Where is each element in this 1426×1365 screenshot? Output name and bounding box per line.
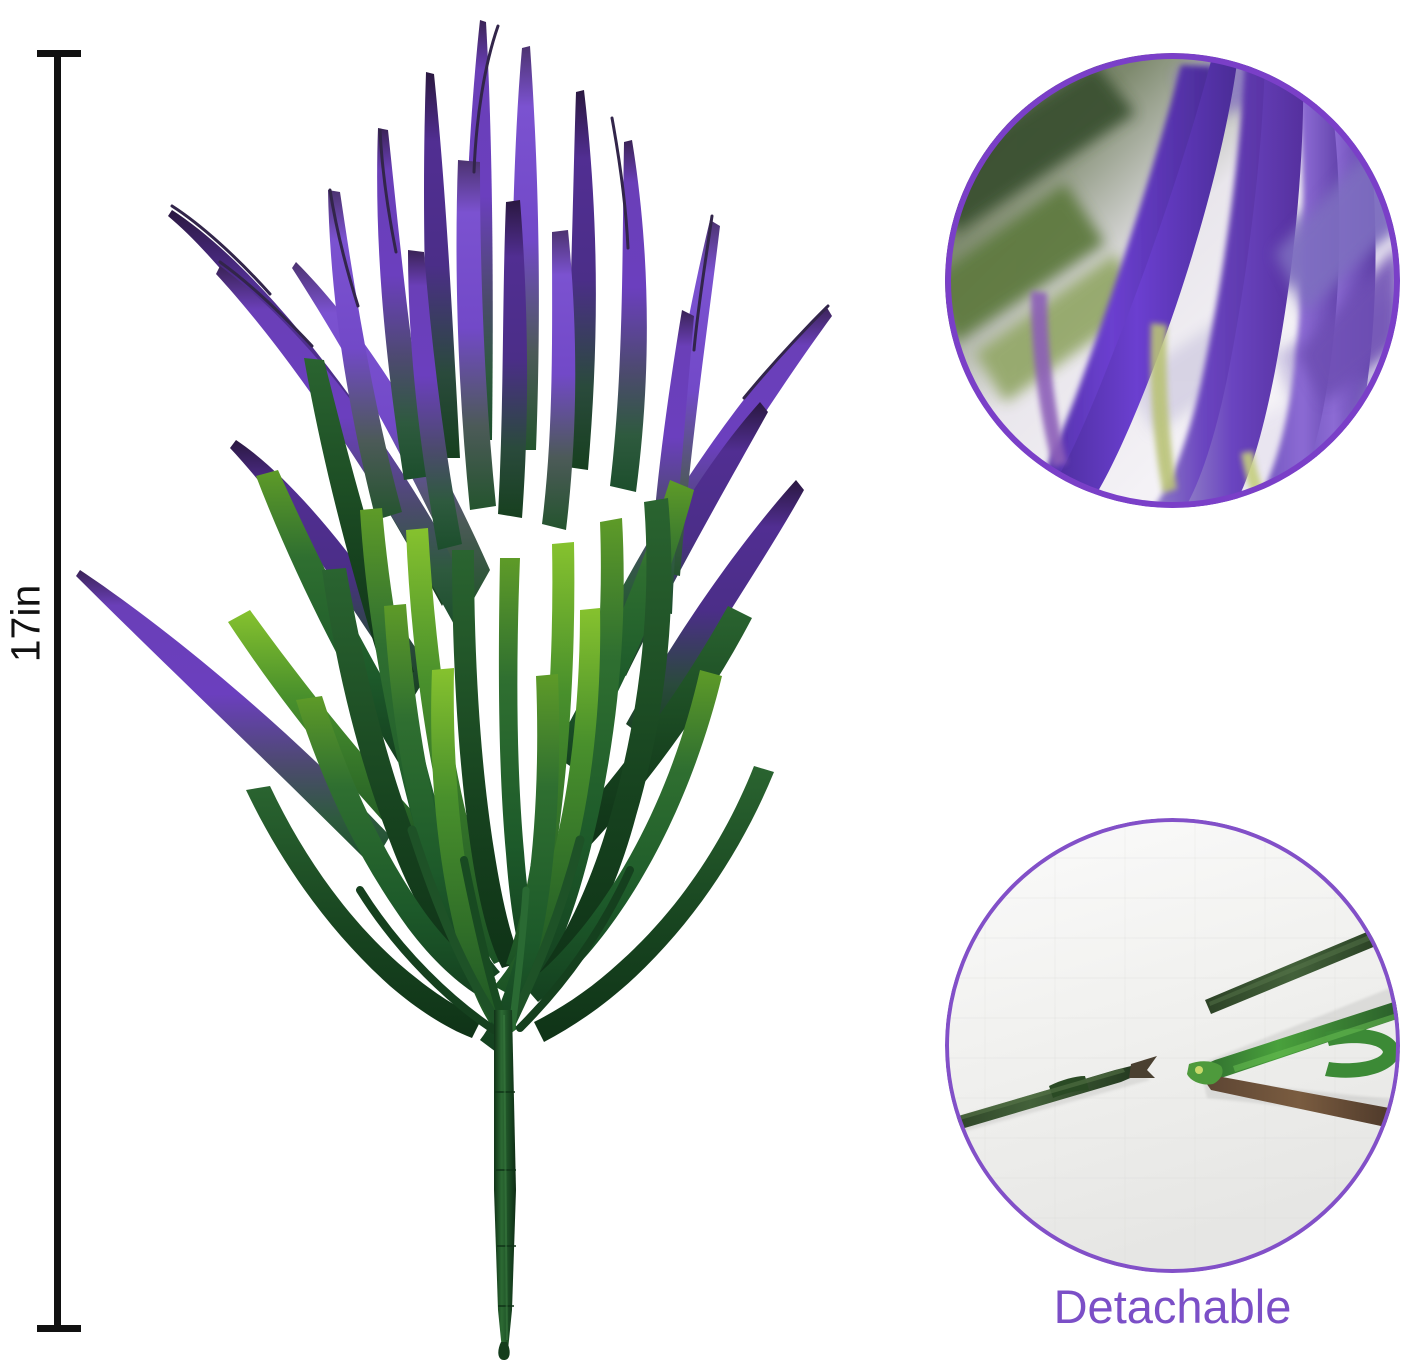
main-stem [494,1010,516,1360]
green-foliage [246,498,774,1052]
height-measurement-label: 17in [3,564,50,684]
detail-circle-leaf-texture [945,53,1400,508]
artificial-grass-plant [60,10,880,1360]
detail-circle-leaf-texture-image [945,53,1400,508]
center-purple-spikes [328,20,647,550]
detail-circle-detachable [945,818,1400,1273]
product-image-canvas: 17in [0,0,1426,1365]
detachable-caption: Detachable [945,1283,1400,1330]
detail-circle-detachable-image [945,818,1400,1273]
wispy-tips [172,26,828,398]
